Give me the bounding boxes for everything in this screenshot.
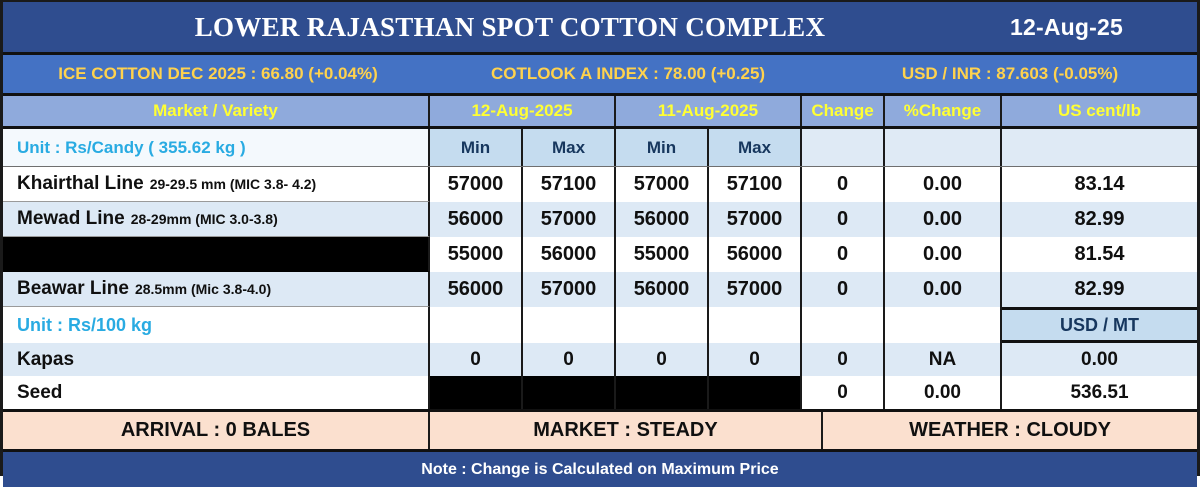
prev-min: 56000 <box>616 272 709 307</box>
price-table: Market / Variety 12-Aug-2025 11-Aug-2025… <box>3 96 1197 409</box>
today-max: 57000 <box>523 202 616 237</box>
title-bar: LOWER RAJASTHAN SPOT COTTON COMPLEX 12-A… <box>3 2 1197 55</box>
variety-spec: 28-29mm (MIC 3.0-3.8) <box>131 211 278 227</box>
change-value: 0 <box>802 202 885 237</box>
unit2-prev-max-blank <box>709 307 802 343</box>
unit2-today-max-blank <box>523 307 616 343</box>
today-min: 57000 <box>430 167 523 202</box>
unit2-today-min-blank <box>430 307 523 343</box>
pct-change-value: 0.00 <box>885 272 1002 307</box>
col-header-usd-mt: USD / MT <box>1002 307 1197 343</box>
col-header-date-prev: 11-Aug-2025 <box>616 96 802 126</box>
variety-name: Beawar Line <box>17 278 129 300</box>
seed-prev-max-redacted <box>709 376 802 409</box>
ticker-cotlook-a-index: COTLOOK A INDEX : 78.00 (+0.25) <box>433 64 823 84</box>
status-bar: ARRIVAL : 0 BALES MARKET : STEADY WEATHE… <box>3 409 1197 452</box>
change-value: 0 <box>802 272 885 307</box>
status-weather: WEATHER : CLOUDY <box>823 412 1197 449</box>
seed-today-min-redacted <box>430 376 523 409</box>
today-min: 56000 <box>430 202 523 237</box>
note-bar: Note : Change is Calculated on Maximum P… <box>3 452 1197 487</box>
kapas-pct-change: NA <box>885 343 1002 376</box>
subheader-pct-change-blank <box>885 129 1002 166</box>
unit-candy-label: Unit : Rs/Candy ( 355.62 kg ) <box>3 129 430 166</box>
today-max: 56000 <box>523 237 616 272</box>
table-row-kapas: Kapas 0 0 0 0 0 NA 0.00 <box>3 343 1197 376</box>
us-cent-value: 82.99 <box>1002 202 1197 237</box>
variety-name-redacted <box>3 237 430 272</box>
table-row: Khairthal Line 29-29.5 mm (MIC 3.8- 4.2)… <box>3 167 1197 202</box>
subheader-prev-min: Min <box>616 129 709 166</box>
prev-min: 55000 <box>616 237 709 272</box>
prev-max: 56000 <box>709 237 802 272</box>
kapas-name: Kapas <box>3 343 430 376</box>
status-market: MARKET : STEADY <box>430 412 823 449</box>
unit-100kg-row: Unit : Rs/100 kg USD / MT <box>3 307 1197 343</box>
unit2-change-blank <box>802 307 885 343</box>
kapas-usd-mt: 0.00 <box>1002 343 1197 376</box>
variety-spec: 28.5mm (Mic 3.8-4.0) <box>135 281 271 297</box>
seed-name: Seed <box>3 376 430 409</box>
table-row: 55000 56000 55000 56000 0 0.00 81.54 <box>3 237 1197 272</box>
table-row: Mewad Line 28-29mm (MIC 3.0-3.8) 56000 5… <box>3 202 1197 237</box>
subheader-today-min: Min <box>430 129 523 166</box>
col-header-date-today: 12-Aug-2025 <box>430 96 616 126</box>
us-cent-value: 81.54 <box>1002 237 1197 272</box>
ticker-usd-inr: USD / INR : 87.603 (-0.05%) <box>823 64 1197 84</box>
subheader-prev-max: Max <box>709 129 802 166</box>
ticker-ice-cotton: ICE COTTON DEC 2025 : 66.80 (+0.04%) <box>3 64 433 84</box>
variety-name: Khairthal Line <box>17 173 144 195</box>
us-cent-value: 83.14 <box>1002 167 1197 202</box>
prev-max: 57000 <box>709 202 802 237</box>
kapas-prev-max: 0 <box>709 343 802 376</box>
kapas-today-max: 0 <box>523 343 616 376</box>
pct-change-value: 0.00 <box>885 167 1002 202</box>
kapas-prev-min: 0 <box>616 343 709 376</box>
variety-name-cell: Beawar Line 28.5mm (Mic 3.8-4.0) <box>3 272 430 307</box>
pct-change-value: 0.00 <box>885 202 1002 237</box>
seed-today-max-redacted <box>523 376 616 409</box>
prev-max: 57100 <box>709 167 802 202</box>
cotton-complex-report: LOWER RAJASTHAN SPOT COTTON COMPLEX 12-A… <box>0 0 1200 476</box>
status-arrival: ARRIVAL : 0 BALES <box>3 412 430 449</box>
unit2-pct-change-blank <box>885 307 1002 343</box>
today-min: 56000 <box>430 272 523 307</box>
us-cent-value: 82.99 <box>1002 272 1197 307</box>
today-max: 57000 <box>523 272 616 307</box>
unit-100kg-label: Unit : Rs/100 kg <box>3 307 430 343</box>
today-max: 57100 <box>523 167 616 202</box>
seed-pct-change: 0.00 <box>885 376 1002 409</box>
subheader-change-blank <box>802 129 885 166</box>
change-value: 0 <box>802 167 885 202</box>
variety-name-cell: Mewad Line 28-29mm (MIC 3.0-3.8) <box>3 202 430 237</box>
change-value: 0 <box>802 237 885 272</box>
unit2-prev-min-blank <box>616 307 709 343</box>
prev-min: 56000 <box>616 202 709 237</box>
table-row: Beawar Line 28.5mm (Mic 3.8-4.0) 56000 5… <box>3 272 1197 307</box>
report-date: 12-Aug-25 <box>1010 14 1123 41</box>
prev-max: 57000 <box>709 272 802 307</box>
table-header-row: Market / Variety 12-Aug-2025 11-Aug-2025… <box>3 96 1197 129</box>
col-header-pct-change: %Change <box>885 96 1002 126</box>
col-header-change: Change <box>802 96 885 126</box>
variety-name: Mewad Line <box>17 208 125 230</box>
kapas-today-min: 0 <box>430 343 523 376</box>
subheader-us-cent-blank <box>1002 129 1197 166</box>
unit-candy-row: Unit : Rs/Candy ( 355.62 kg ) Min Max Mi… <box>3 129 1197 167</box>
seed-usd-mt: 536.51 <box>1002 376 1197 409</box>
prev-min: 57000 <box>616 167 709 202</box>
kapas-change: 0 <box>802 343 885 376</box>
table-row-seed: Seed 0 0.00 536.51 <box>3 376 1197 409</box>
ticker-bar: ICE COTTON DEC 2025 : 66.80 (+0.04%) COT… <box>3 55 1197 96</box>
seed-prev-min-redacted <box>616 376 709 409</box>
subheader-today-max: Max <box>523 129 616 166</box>
variety-spec: 29-29.5 mm (MIC 3.8- 4.2) <box>150 176 317 192</box>
col-header-market-variety: Market / Variety <box>3 96 430 126</box>
col-header-us-cent-lb: US cent/lb <box>1002 96 1197 126</box>
variety-name-cell: Khairthal Line 29-29.5 mm (MIC 3.8- 4.2) <box>3 167 430 202</box>
pct-change-value: 0.00 <box>885 237 1002 272</box>
today-min: 55000 <box>430 237 523 272</box>
seed-change: 0 <box>802 376 885 409</box>
